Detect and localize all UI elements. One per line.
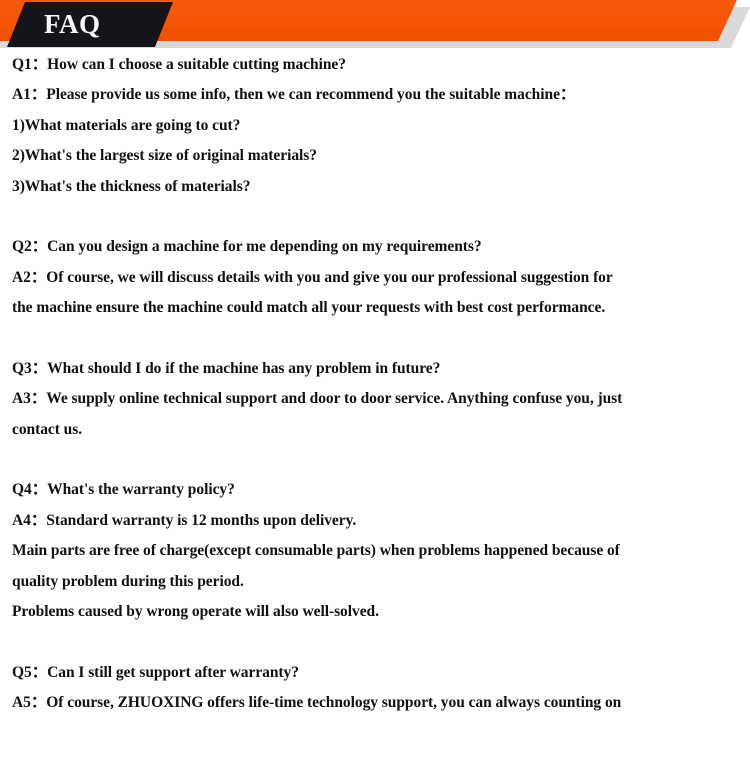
faq-line-a1: A1：Please provide us some info, then we … — [12, 80, 740, 110]
faq-line-a2-cont: the machine ensure the machine could mat… — [12, 293, 740, 323]
faq-line-q1: Q1：How can I choose a suitable cutting m… — [12, 50, 740, 80]
faq-line-a4-cont-2: quality problem during this period. — [12, 567, 740, 597]
line-spacer — [12, 202, 740, 232]
faq-header-banner: FAQ — [0, 0, 750, 50]
line-spacer — [12, 324, 740, 354]
faq-line-a1-item-2: 2)What's the largest size of original ma… — [12, 141, 740, 171]
faq-line-a1-item-1: 1)What materials are going to cut? — [12, 111, 740, 141]
line-spacer — [12, 445, 740, 475]
faq-line-a4-cont-3: Problems caused by wrong operate will al… — [12, 597, 740, 627]
faq-line-q2: Q2：Can you design a machine for me depen… — [12, 232, 740, 262]
faq-line-a5: A5：Of course, ZHUOXING offers life-time … — [12, 688, 740, 718]
faq-line-a2: A2：Of course, we will discuss details wi… — [12, 263, 740, 293]
line-spacer — [12, 627, 740, 657]
faq-line-a3-cont: contact us. — [12, 415, 740, 445]
faq-line-a4: A4：Standard warranty is 12 months upon d… — [12, 506, 740, 536]
faq-line-a4-cont-1: Main parts are free of charge(except con… — [12, 536, 740, 566]
faq-line-q5: Q5：Can I still get support after warrant… — [12, 658, 740, 688]
faq-line-a3: A3：We supply online technical support an… — [12, 384, 740, 414]
faq-line-a1-item-3: 3)What's the thickness of materials? — [12, 172, 740, 202]
page-title: FAQ — [44, 7, 101, 41]
faq-line-q3: Q3：What should I do if the machine has a… — [12, 354, 740, 384]
faq-line-q4: Q4：What's the warranty policy? — [12, 475, 740, 505]
faq-content: Q1：How can I choose a suitable cutting m… — [0, 50, 750, 719]
